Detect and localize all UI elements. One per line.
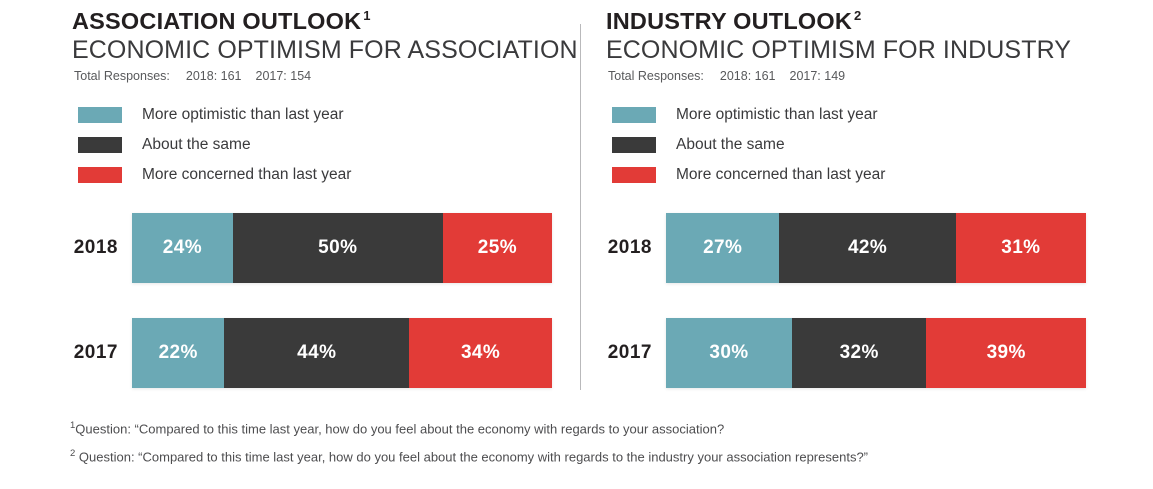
- bar-row: 2018 24% 50% 25%: [72, 213, 552, 283]
- legend-item: More optimistic than last year: [78, 100, 351, 130]
- bar-segment-value: 39%: [987, 342, 1026, 364]
- panel-title-industry: INDUSTRY OUTLOOK2: [606, 8, 861, 35]
- legend-label: About the same: [676, 136, 785, 154]
- bar-year-label: 2018: [606, 237, 666, 259]
- total-responses-2017: 2017: 149: [790, 69, 846, 83]
- legend-swatch-optimistic: [612, 107, 656, 123]
- bar-segment-value: 25%: [478, 237, 517, 259]
- bar-segment-value: 22%: [159, 342, 198, 364]
- bar-segment-same: 42%: [779, 213, 955, 283]
- legend-association: More optimistic than last year About the…: [78, 100, 351, 190]
- stacked-bar: 30% 32% 39%: [666, 318, 1086, 388]
- stacked-bar: 24% 50% 25%: [132, 213, 552, 283]
- footnote-1: 1Question: “Compared to this time last y…: [70, 421, 1110, 437]
- total-responses-2018: 2018: 161: [186, 69, 242, 83]
- panel-title-text: INDUSTRY OUTLOOK: [606, 8, 852, 34]
- legend-item: More optimistic than last year: [612, 100, 885, 130]
- bar-segment-value: 31%: [1001, 237, 1040, 259]
- bar-row: 2018 27% 42% 31%: [606, 213, 1086, 283]
- legend-item: About the same: [78, 130, 351, 160]
- legend-item: About the same: [612, 130, 885, 160]
- footnote-text: Question: “Compared to this time last ye…: [75, 421, 724, 436]
- bar-segment-optimistic: 27%: [666, 213, 779, 283]
- bar-segment-optimistic: 24%: [132, 213, 233, 283]
- legend-label: More concerned than last year: [676, 166, 885, 184]
- panel-title-footnote-marker: 2: [854, 8, 861, 23]
- panel-title-association: ASSOCIATION OUTLOOK1: [72, 8, 371, 35]
- panel-title-footnote-marker: 1: [363, 8, 370, 23]
- bar-row: 2017 30% 32% 39%: [606, 318, 1086, 388]
- footnote-text: Question: “Compared to this time last ye…: [79, 449, 868, 464]
- legend-label: About the same: [142, 136, 251, 154]
- bar-segment-value: 50%: [318, 237, 357, 259]
- panel-industry: INDUSTRY OUTLOOK2 ECONOMIC OPTIMISM FOR …: [606, 0, 1126, 400]
- bar-segment-same: 32%: [792, 318, 926, 388]
- total-responses-2017: 2017: 154: [256, 69, 312, 83]
- legend-label: More optimistic than last year: [676, 106, 878, 124]
- footnote-marker: 2: [70, 448, 75, 459]
- bar-segment-concerned: 25%: [443, 213, 552, 283]
- bar-segment-value: 32%: [840, 342, 879, 364]
- bar-segment-concerned: 39%: [926, 318, 1086, 388]
- bar-segment-value: 44%: [297, 342, 336, 364]
- stacked-bar: 22% 44% 34%: [132, 318, 552, 388]
- legend-swatch-concerned: [78, 167, 122, 183]
- bar-segment-concerned: 31%: [956, 213, 1086, 283]
- panel-association: ASSOCIATION OUTLOOK1 ECONOMIC OPTIMISM F…: [72, 0, 592, 400]
- total-responses-label: Total Responses:: [74, 69, 170, 83]
- bar-segment-value: 34%: [461, 342, 500, 364]
- bar-segment-concerned: 34%: [409, 318, 552, 388]
- total-responses-association: Total Responses:2018: 1612017: 154: [74, 69, 311, 83]
- total-responses-label: Total Responses:: [608, 69, 704, 83]
- footnotes: 1Question: “Compared to this time last y…: [70, 421, 1110, 476]
- bar-year-label: 2018: [72, 237, 132, 259]
- bar-segment-optimistic: 22%: [132, 318, 224, 388]
- legend-swatch-optimistic: [78, 107, 122, 123]
- legend-swatch-same: [612, 137, 656, 153]
- panel-subtitle-association: ECONOMIC OPTIMISM FOR ASSOCIATION: [72, 36, 578, 65]
- bar-segment-value: 24%: [163, 237, 202, 259]
- bar-segment-optimistic: 30%: [666, 318, 792, 388]
- bar-row: 2017 22% 44% 34%: [72, 318, 552, 388]
- legend-item: More concerned than last year: [78, 160, 351, 190]
- bar-segment-value: 30%: [709, 342, 748, 364]
- bar-segment-same: 44%: [224, 318, 409, 388]
- legend-industry: More optimistic than last year About the…: [612, 100, 885, 190]
- stacked-bar: 27% 42% 31%: [666, 213, 1086, 283]
- bar-year-label: 2017: [606, 342, 666, 364]
- legend-label: More optimistic than last year: [142, 106, 344, 124]
- legend-swatch-concerned: [612, 167, 656, 183]
- bar-segment-value: 27%: [703, 237, 742, 259]
- legend-item: More concerned than last year: [612, 160, 885, 190]
- bar-segment-value: 42%: [848, 237, 887, 259]
- panel-subtitle-industry: ECONOMIC OPTIMISM FOR INDUSTRY: [606, 36, 1071, 65]
- footnote-2: 2 Question: “Compared to this time last …: [70, 449, 1110, 465]
- total-responses-industry: Total Responses:2018: 1612017: 149: [608, 69, 845, 83]
- infographic-root: ASSOCIATION OUTLOOK1 ECONOMIC OPTIMISM F…: [0, 0, 1153, 489]
- legend-label: More concerned than last year: [142, 166, 351, 184]
- panel-title-text: ASSOCIATION OUTLOOK: [72, 8, 361, 34]
- legend-swatch-same: [78, 137, 122, 153]
- bar-segment-same: 50%: [233, 213, 443, 283]
- total-responses-2018: 2018: 161: [720, 69, 776, 83]
- bar-year-label: 2017: [72, 342, 132, 364]
